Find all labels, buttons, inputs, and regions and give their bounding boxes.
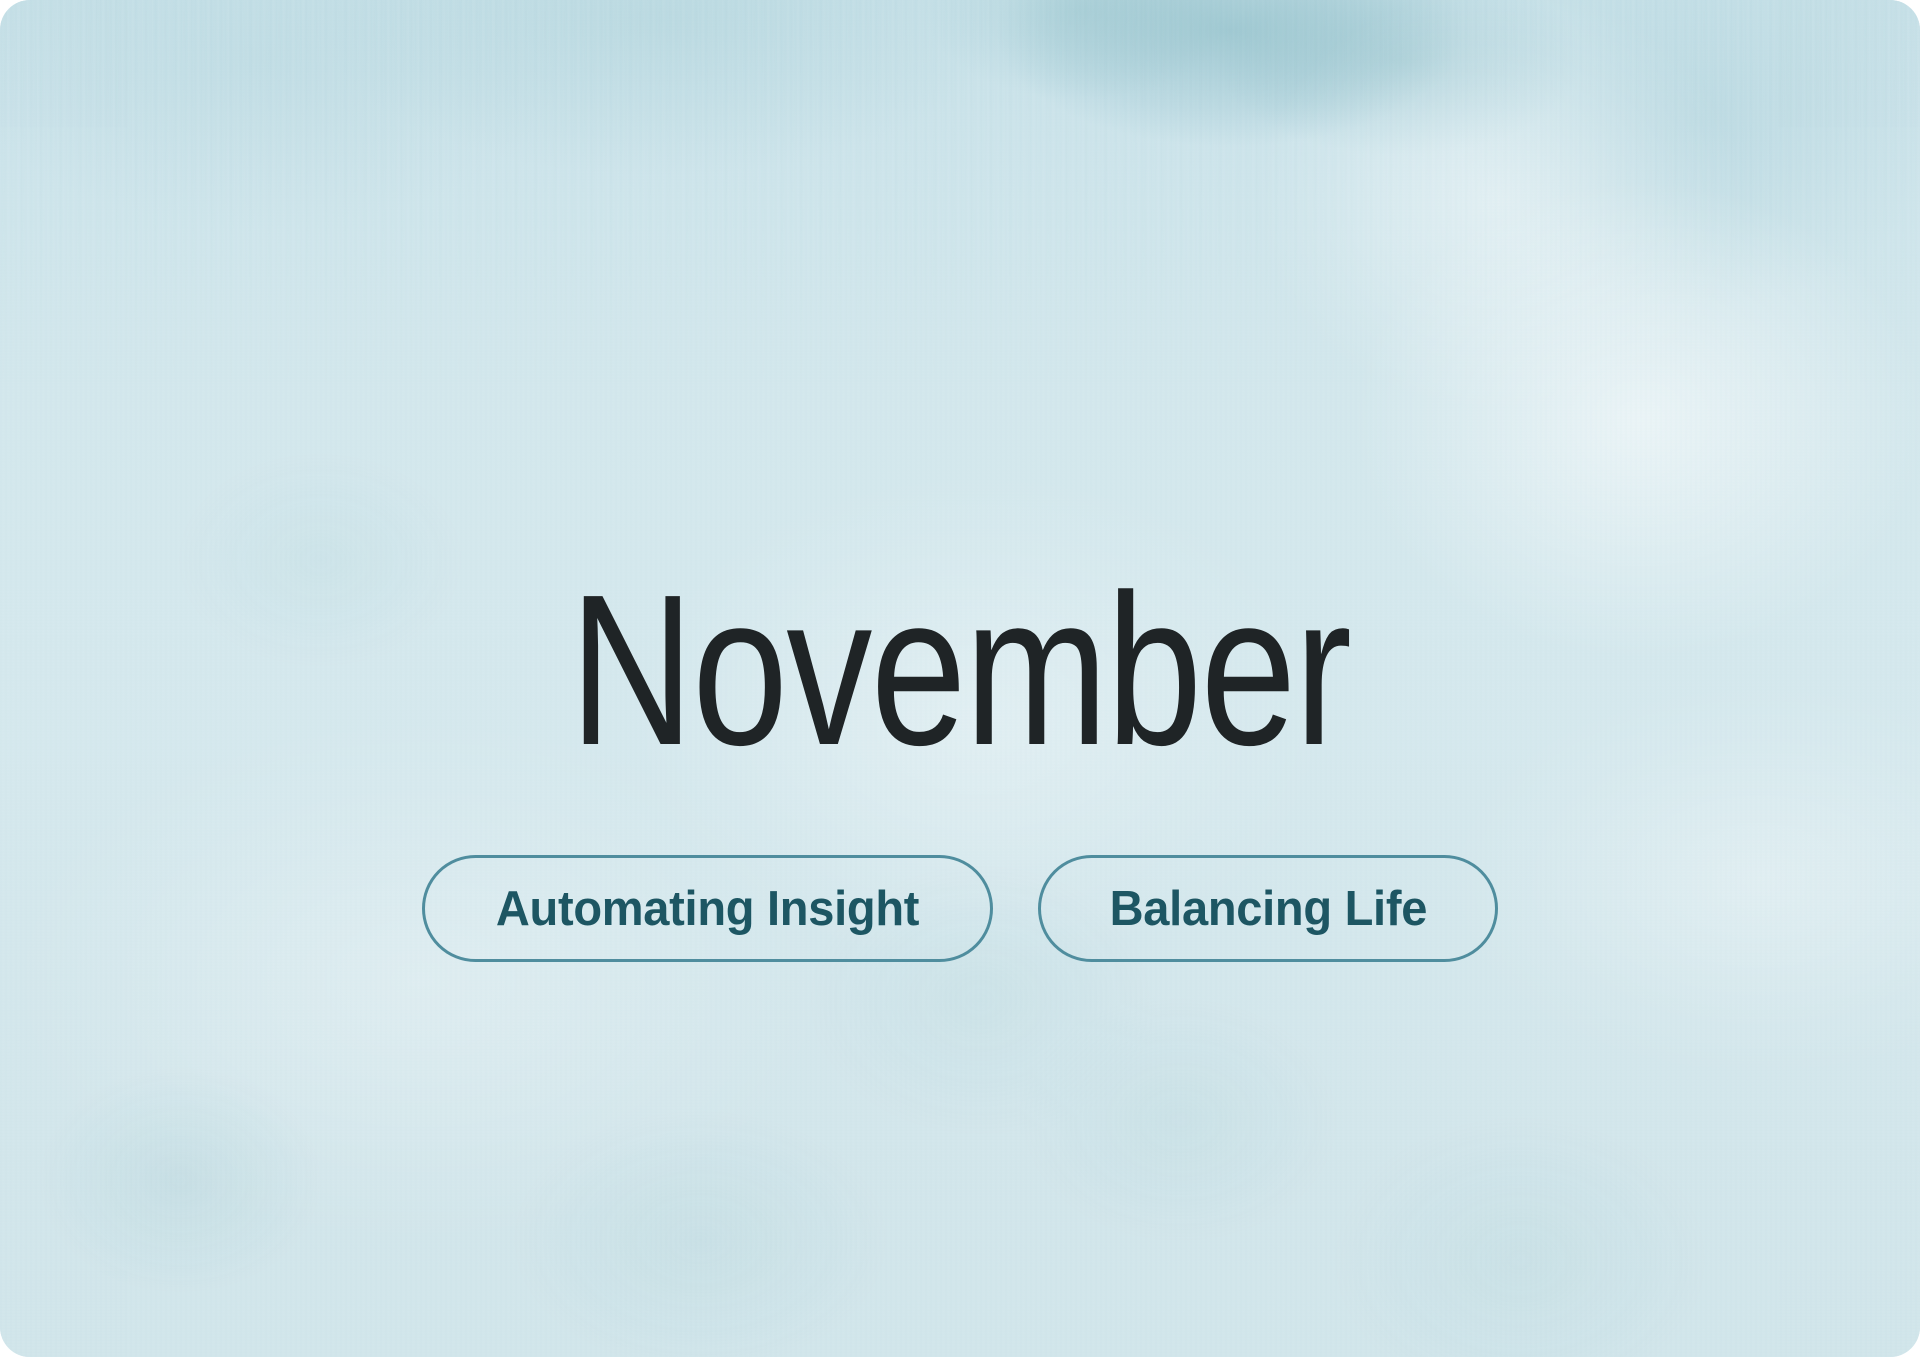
page-title: November <box>192 562 1728 777</box>
tag-row: Automating Insight Balancing Life <box>0 855 1920 962</box>
cover-content: November Automating Insight Balancing Li… <box>0 0 1920 1357</box>
tag-pill-automating-insight[interactable]: Automating Insight <box>422 855 993 962</box>
tag-pill-label: Balancing Life <box>1109 881 1426 937</box>
tag-pill-label: Automating Insight <box>495 881 918 937</box>
tag-pill-balancing-life[interactable]: Balancing Life <box>1038 855 1499 962</box>
cover-canvas: November Automating Insight Balancing Li… <box>0 0 1920 1357</box>
